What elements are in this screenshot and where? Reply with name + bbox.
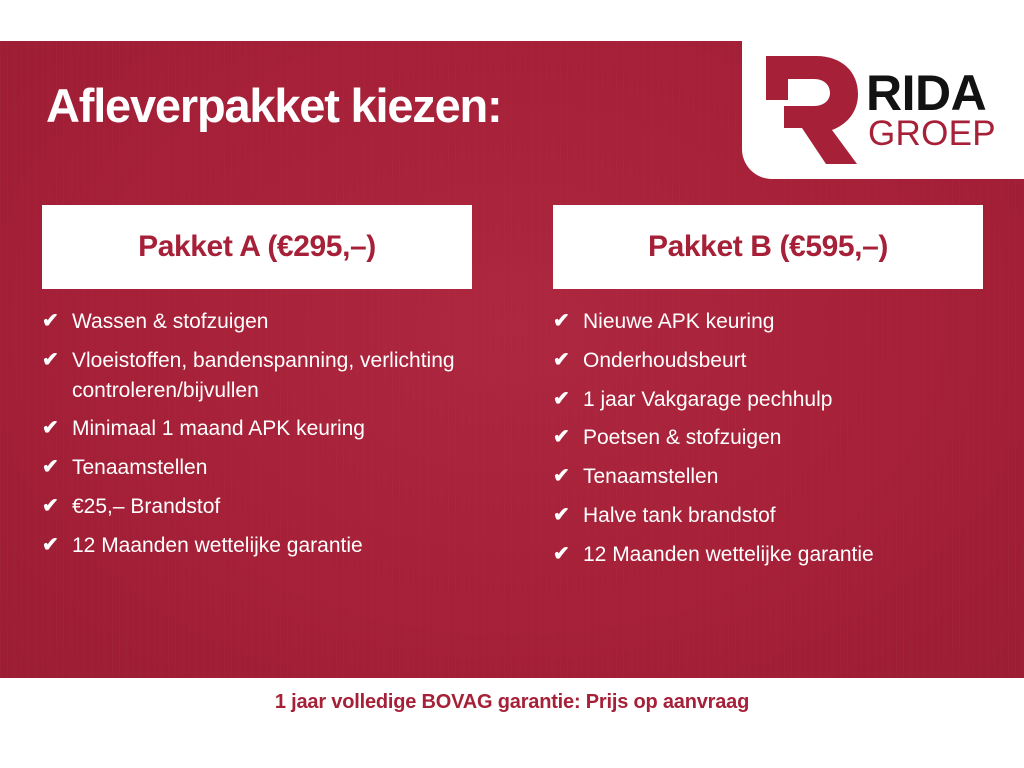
feature-label: Halve tank brandstof <box>583 501 983 531</box>
feature-label: 1 jaar Vakgarage pechhulp <box>583 385 983 415</box>
list-item: ✔ Onderhoudsbeurt <box>553 346 983 376</box>
check-icon: ✔ <box>553 423 583 452</box>
list-item: ✔ 12 Maanden wettelijke garantie <box>553 540 983 570</box>
check-icon: ✔ <box>553 385 583 414</box>
feature-label: 12 Maanden wettelijke garantie <box>583 540 983 570</box>
list-item: ✔ Minimaal 1 maand APK keuring <box>42 414 472 444</box>
feature-label: 12 Maanden wettelijke garantie <box>72 531 472 561</box>
brand-wordmark: RIDA GROEP <box>866 70 996 150</box>
feature-label: Onderhoudsbeurt <box>583 346 983 376</box>
check-icon: ✔ <box>553 501 583 530</box>
check-icon: ✔ <box>553 346 583 375</box>
feature-label: Minimaal 1 maand APK keuring <box>72 414 472 444</box>
package-b-title: Pakket B (€595,–) <box>648 230 888 264</box>
check-icon: ✔ <box>42 414 72 443</box>
check-icon: ✔ <box>42 307 72 336</box>
footer-bar: 1 jaar volledige BOVAG garantie: Prijs o… <box>0 678 1024 768</box>
feature-label: Wassen & stofzuigen <box>72 307 472 337</box>
list-item: ✔ Wassen & stofzuigen <box>42 307 472 337</box>
list-item: ✔ Halve tank brandstof <box>553 501 983 531</box>
check-icon: ✔ <box>553 307 583 336</box>
check-icon: ✔ <box>553 540 583 569</box>
package-a-feature-list: ✔ Wassen & stofzuigen ✔ Vloeistoffen, ba… <box>42 307 472 561</box>
brand-logo-panel: RIDA GROEP <box>742 41 1024 179</box>
list-item: ✔ 12 Maanden wettelijke garantie <box>42 531 472 561</box>
brand-subname: GROEP <box>868 118 996 150</box>
package-column-b: Pakket B (€595,–) ✔ Nieuwe APK keuring ✔… <box>553 205 983 579</box>
list-item: ✔ Poetsen & stofzuigen <box>553 423 983 453</box>
list-item: ✔ Nieuwe APK keuring <box>553 307 983 337</box>
top-white-band <box>0 0 1024 41</box>
feature-label: Vloeistoffen, bandenspanning, verlichtin… <box>72 346 472 406</box>
poster-canvas: Afleverpakket kiezen: RIDA GROEP Pakket … <box>0 0 1024 768</box>
package-b-header-card[interactable]: Pakket B (€595,–) <box>553 205 983 289</box>
package-a-title: Pakket A (€295,–) <box>138 230 376 264</box>
footer-note: 1 jaar volledige BOVAG garantie: Prijs o… <box>275 691 749 714</box>
package-b-feature-list: ✔ Nieuwe APK keuring ✔ Onderhoudsbeurt ✔… <box>553 307 983 570</box>
list-item: ✔ 1 jaar Vakgarage pechhulp <box>553 385 983 415</box>
packages-container: Pakket A (€295,–) ✔ Wassen & stofzuigen … <box>0 205 1024 579</box>
feature-label: €25,– Brandstof <box>72 492 472 522</box>
check-icon: ✔ <box>42 453 72 482</box>
feature-label: Poetsen & stofzuigen <box>583 423 983 453</box>
list-item: ✔ Vloeistoffen, bandenspanning, verlicht… <box>42 346 472 406</box>
package-column-a: Pakket A (€295,–) ✔ Wassen & stofzuigen … <box>42 205 472 579</box>
list-item: ✔ €25,– Brandstof <box>42 492 472 522</box>
check-icon: ✔ <box>42 531 72 560</box>
package-a-header-card[interactable]: Pakket A (€295,–) <box>42 205 472 289</box>
list-item: ✔ Tenaamstellen <box>553 462 983 492</box>
check-icon: ✔ <box>42 346 72 375</box>
page-title: Afleverpakket kiezen: <box>46 78 501 133</box>
feature-label: Nieuwe APK keuring <box>583 307 983 337</box>
feature-label: Tenaamstellen <box>72 453 472 483</box>
brand-name: RIDA <box>866 70 996 116</box>
feature-label: Tenaamstellen <box>583 462 983 492</box>
rida-r-monogram-icon <box>756 54 860 166</box>
list-item: ✔ Tenaamstellen <box>42 453 472 483</box>
check-icon: ✔ <box>553 462 583 491</box>
check-icon: ✔ <box>42 492 72 521</box>
